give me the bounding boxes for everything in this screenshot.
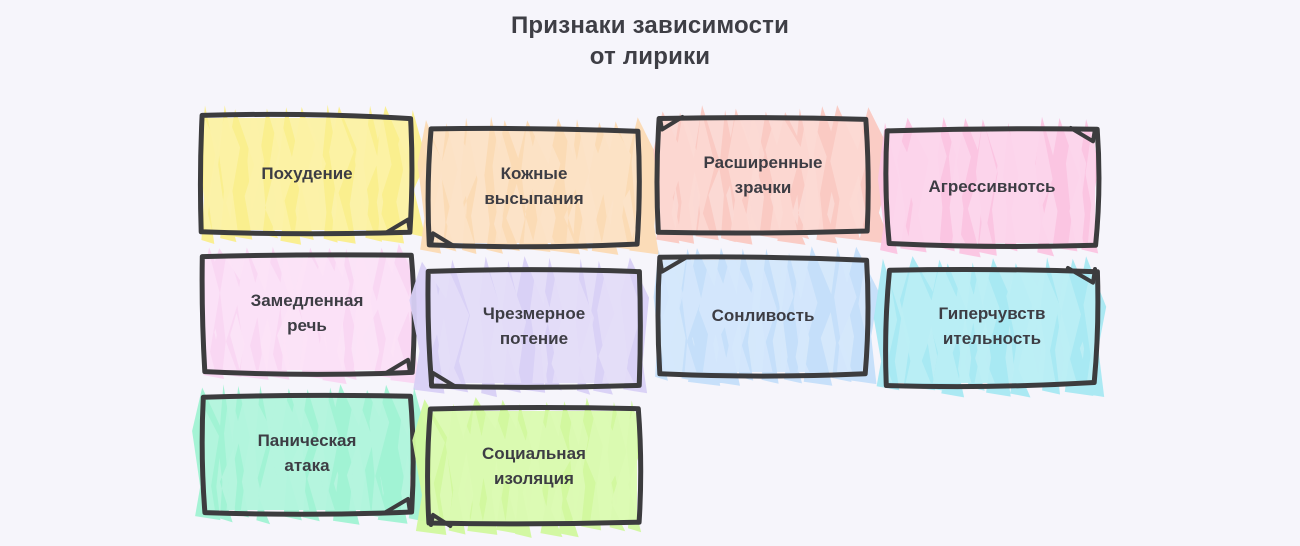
- card-socialnaya-izolyaciya[interactable]: Социальная изоляция: [430, 410, 638, 524]
- card-zamedlennaya-rech[interactable]: Замедленная речь: [203, 257, 411, 371]
- card-sketch: [408, 248, 660, 406]
- card-sketch: [637, 237, 889, 395]
- card-pohudenie[interactable]: Похудение: [203, 117, 411, 231]
- card-sketch: [866, 108, 1118, 266]
- card-sketch: [181, 375, 433, 533]
- card-kozhnye-vysypaniya[interactable]: Кожные высыпания: [430, 130, 638, 244]
- card-rasshirennye-zrachki[interactable]: Расширенные зрачки: [659, 119, 867, 233]
- card-sketch: [181, 235, 433, 393]
- cards-grid: ПохудениеКожные высыпанияРасширенные зра…: [0, 0, 1300, 546]
- card-sketch: [181, 95, 433, 253]
- card-agressivnotsy[interactable]: Агрессивнотсь: [888, 130, 1096, 244]
- card-sketch: [637, 97, 889, 255]
- infographic-board: Признаки зависимости от лирики Похудение…: [0, 0, 1300, 546]
- card-giperchuvstvitelnost[interactable]: Гиперчувств ительность: [888, 270, 1096, 384]
- card-sketch: [866, 248, 1118, 406]
- card-chrezmernoe-potenie[interactable]: Чрезмерное потение: [430, 270, 638, 384]
- card-sketch: [408, 388, 660, 546]
- card-sonlivost[interactable]: Сонливость: [659, 259, 867, 373]
- card-sketch: [408, 108, 660, 266]
- card-panicheskaya-ataka[interactable]: Паническая атака: [203, 397, 411, 511]
